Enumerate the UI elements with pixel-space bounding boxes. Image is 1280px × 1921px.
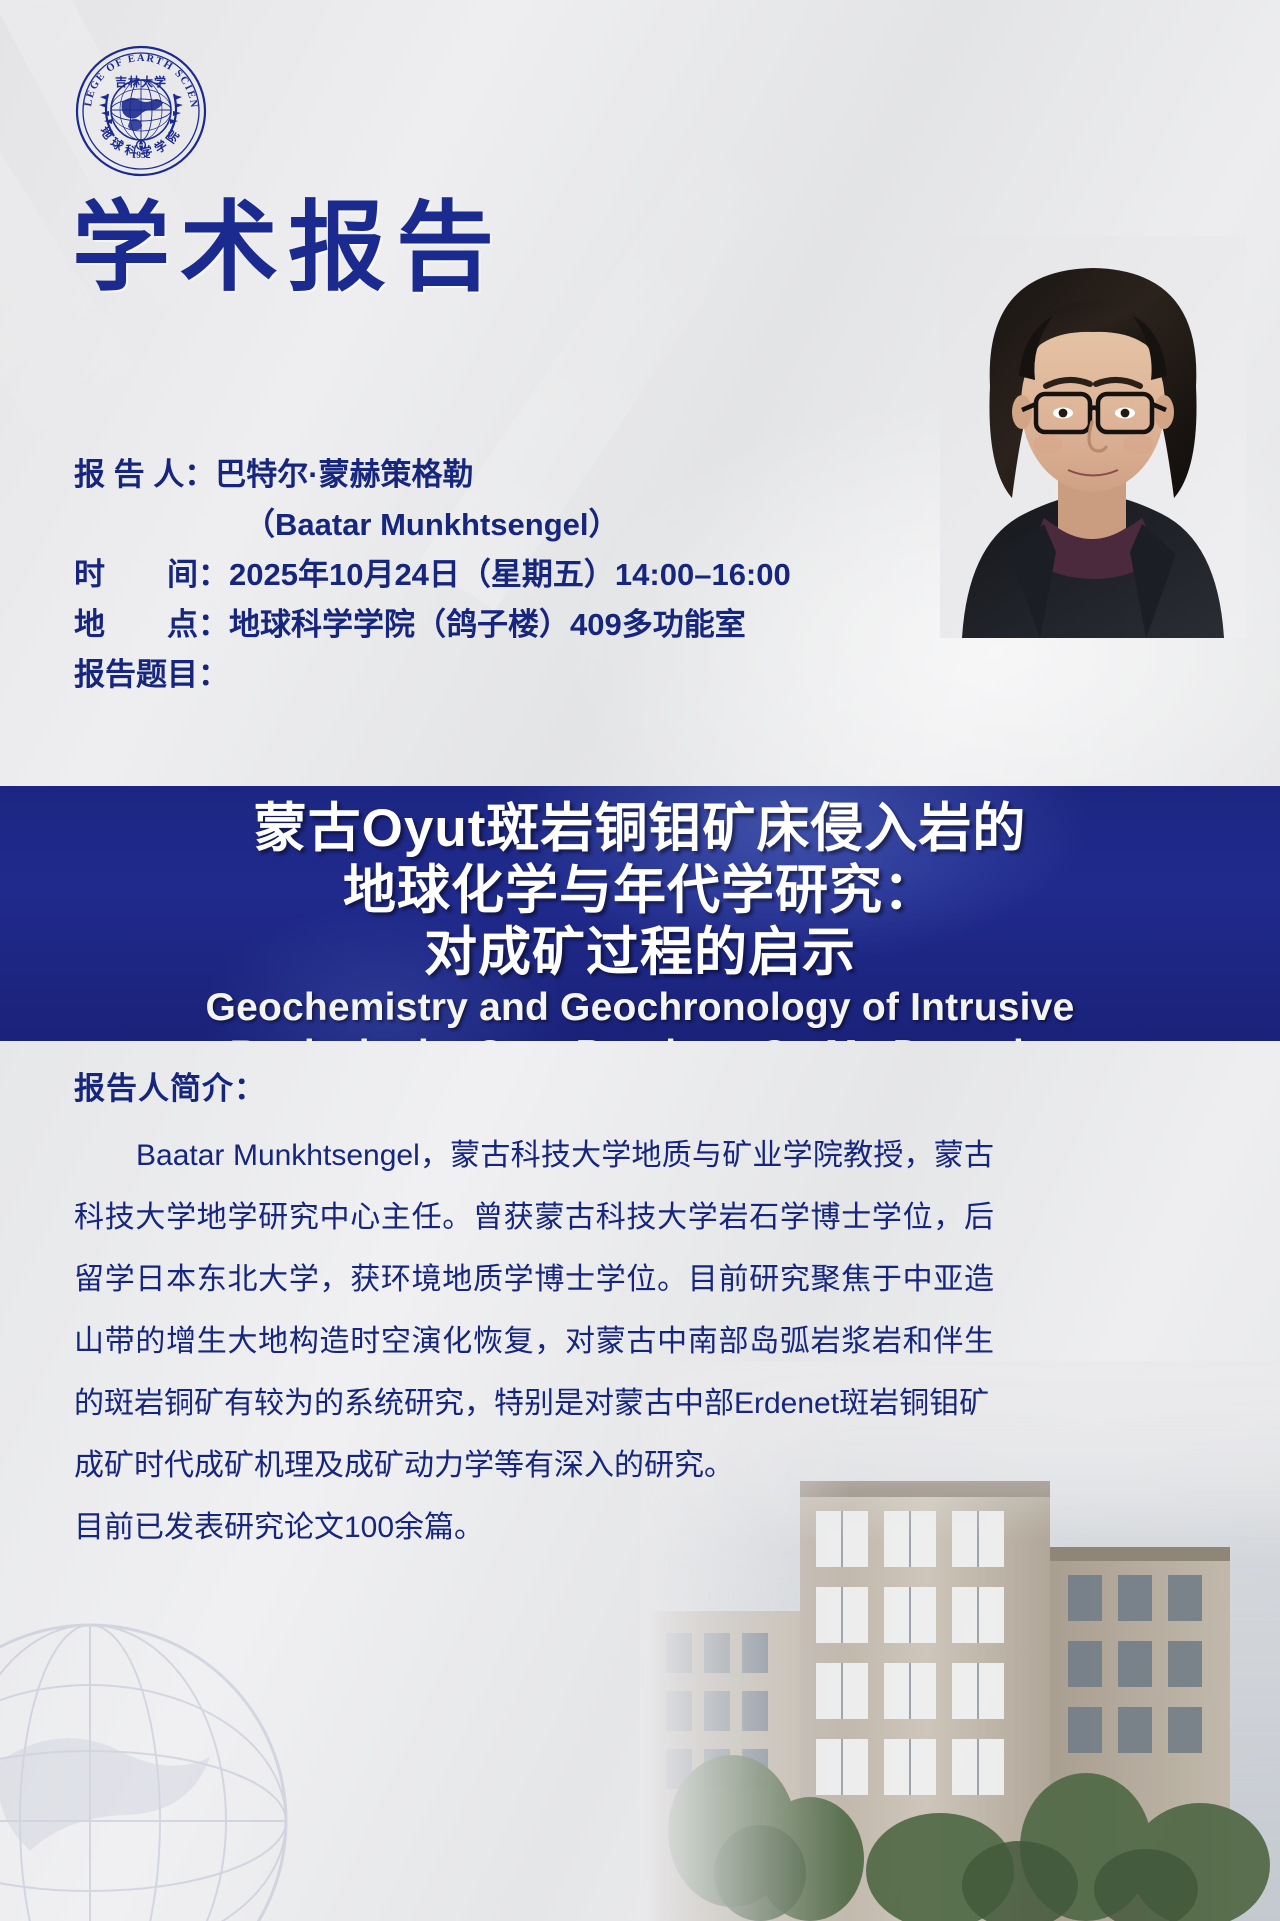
info-value-location: 地球科学学院（鸽子楼）409多功能室 [229, 607, 746, 642]
talk-title-cn-line-2: 地球化学与年代学研究： [343, 860, 937, 922]
info-label-speaker: 报 告 人： [74, 450, 215, 500]
college-seal-logo: COLLEGE OF EARTH SCIENCES 地球科学学院 [74, 44, 208, 178]
globe-watermark-icon [0, 1611, 300, 1921]
info-value-time: 2025年10月24日（星期五）14:00–16:00 [229, 557, 791, 592]
info-row-time: 时 间：2025年10月24日（星期五）14:00–16:00 [74, 550, 874, 600]
bio-text: Baatar Munkhtsengel，蒙古科技大学地质与矿业学院教授，蒙古科技… [74, 1125, 994, 1559]
info-value-speaker-en: （Baatar Munkhtsengel） [244, 507, 620, 542]
bio-paragraph-3: 目前已发表研究论文100余篇。 [74, 1497, 994, 1559]
page-title: 学术报告 [72, 196, 504, 299]
svg-text:1952: 1952 [132, 151, 151, 161]
svg-text:吉林大学: 吉林大学 [115, 74, 167, 89]
talk-title-cn-line-3: 对成矿过程的启示 [424, 922, 856, 984]
info-label-topic: 报告题目： [74, 650, 229, 700]
info-row-topic: 报告题目： [74, 650, 874, 700]
bio-heading: 报告人简介： [74, 1063, 266, 1108]
talk-title-cn-line-1: 蒙古Oyut斑岩铜钼矿床侵入岩的 [254, 798, 1027, 860]
bio-paragraph-1: Baatar Munkhtsengel，蒙古科技大学地质与矿业学院教授，蒙古科技… [74, 1125, 994, 1435]
talk-title-banner: 蒙古Oyut斑岩铜钼矿床侵入岩的 地球化学与年代学研究： 对成矿过程的启示 Ge… [0, 786, 1280, 1041]
info-label-time: 时 间： [74, 550, 229, 600]
bio-paragraph-2: 成矿时代成矿机理及成矿动力学等有深入的研究。 [74, 1435, 994, 1497]
event-info-block: 报 告 人：巴特尔·蒙赫策格勒 （Baatar Munkhtsengel） 时 … [74, 450, 874, 700]
info-label-location: 地 点： [74, 600, 229, 650]
info-row-speaker: 报 告 人：巴特尔·蒙赫策格勒 [74, 450, 874, 500]
speaker-portrait [940, 236, 1246, 638]
talk-title-en-line-1: Geochemistry and Geochronology of Intrus… [206, 984, 1075, 1031]
info-row-speaker-en: （Baatar Munkhtsengel） [74, 500, 874, 550]
speaker-bio-section: 报告人简介： Baatar Munkhtsengel，蒙古科技大学地质与矿业学院… [0, 1041, 1280, 1921]
info-row-location: 地 点：地球科学学院（鸽子楼）409多功能室 [74, 600, 874, 650]
info-value-speaker: 巴特尔·蒙赫策格勒 [215, 457, 473, 492]
poster-root: COLLEGE OF EARTH SCIENCES 地球科学学院 [0, 0, 1280, 1921]
